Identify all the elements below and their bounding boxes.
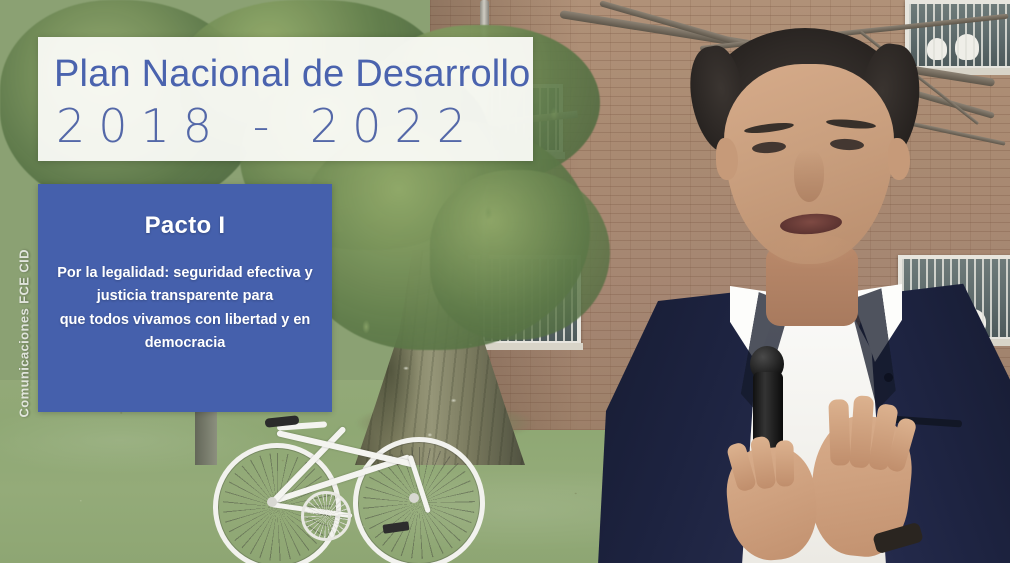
ear [888,138,910,180]
nose [794,150,824,202]
chin [766,234,856,268]
bicycle-hub [267,497,277,507]
bicycle-hub [409,493,419,503]
pacto-line: justicia transparente para [48,285,322,308]
pacto-description: Por la legalidad: seguridad efectiva y j… [38,240,332,356]
pacto-line: que todos vivamos con libertad y en [48,309,322,332]
title-year-range: 2018 - 2022 [38,93,533,149]
pacto-title: Pacto I [38,184,332,240]
jacket-button [884,373,893,382]
bicycle [205,395,605,563]
finger [775,440,794,486]
pacto-card: Pacto I Por la legalidad: seguridad efec… [38,184,332,412]
bicycle-chainring [301,491,351,541]
video-frame: Plan Nacional de Desarrollo 2018 - 2022 … [0,0,1010,563]
pacto-line: Por la legalidad: seguridad efectiva y [48,262,322,285]
page-title: Plan Nacional de Desarrollo [38,37,533,93]
pacto-line: democracia [48,332,322,355]
ear [716,138,738,180]
speaker-person [598,28,1010,563]
finger [828,399,850,466]
title-card: Plan Nacional de Desarrollo 2018 - 2022 [38,37,533,161]
